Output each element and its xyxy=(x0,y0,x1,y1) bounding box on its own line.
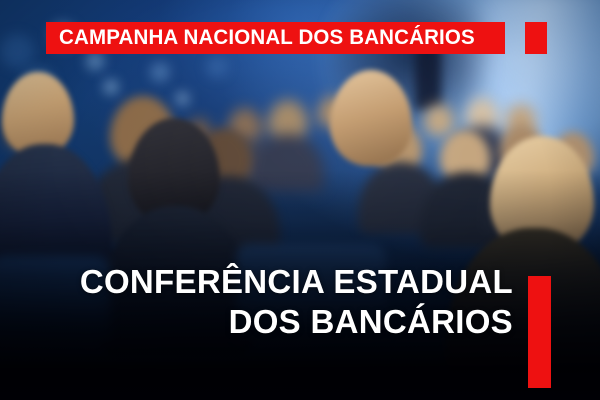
campaign-banner-label: CAMPANHA NACIONAL DOS BANCÁRIOS xyxy=(59,27,475,49)
campaign-banner: CAMPANHA NACIONAL DOS BANCÁRIOS xyxy=(46,22,505,54)
headline-line-1: CONFERÊNCIA ESTADUAL xyxy=(0,262,513,302)
headline-block: CONFERÊNCIA ESTADUAL DOS BANCÁRIOS xyxy=(0,262,600,342)
poster-canvas: CAMPANHA NACIONAL DOS BANCÁRIOS CONFERÊN… xyxy=(0,0,600,400)
banner-accent-square xyxy=(525,22,547,54)
headline-accent-bar xyxy=(528,276,551,388)
headline-line-2: DOS BANCÁRIOS xyxy=(0,302,513,342)
